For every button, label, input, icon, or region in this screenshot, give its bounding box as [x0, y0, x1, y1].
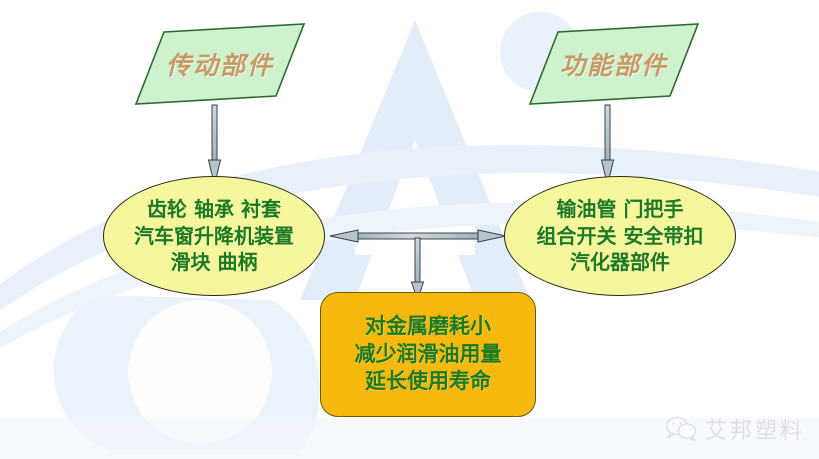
node-benefits-line-2: 减少润滑油用量: [355, 341, 502, 369]
node-parts-right-line-1: 输油管 门把手: [557, 196, 684, 222]
footer-watermark: 艾邦塑料: [665, 413, 805, 445]
arrow-right-category-to-parts: [602, 105, 614, 185]
arrow-parts-to-benefits: [412, 238, 424, 300]
node-parts-right[interactable]: 输油管 门把手 组合开关 安全带扣 汽化器部件: [504, 176, 736, 296]
node-benefits[interactable]: 对金属磨耗小 减少润滑油用量 延长使用寿命: [320, 292, 536, 417]
node-benefits-line-1: 对金属磨耗小: [365, 313, 491, 341]
node-category-left[interactable]: 传动部件: [136, 24, 304, 104]
node-parts-left-line-3: 滑块 曲柄: [171, 249, 258, 275]
node-parts-left[interactable]: 齿轮 轴承 衬套 汽车窗升降机装置 滑块 曲柄: [103, 176, 325, 296]
node-benefits-line-3: 延长使用寿命: [365, 368, 491, 396]
diagram-canvas: 传动部件 功能部件 齿轮 轴承 衬套 汽车窗升降机装置 滑块 曲柄 输油管 门把…: [0, 0, 819, 459]
node-parts-left-line-1: 齿轮 轴承 衬套: [147, 196, 281, 222]
node-category-right-label: 功能部件: [530, 24, 698, 104]
node-parts-right-line-3: 汽化器部件: [570, 249, 670, 275]
node-parts-right-line-2: 组合开关 安全带扣: [537, 223, 704, 249]
arrow-left-category-to-parts: [209, 105, 221, 185]
wechat-icon: [665, 416, 697, 442]
node-parts-left-line-2: 汽车窗升降机装置: [134, 223, 294, 249]
node-category-right[interactable]: 功能部件: [530, 24, 698, 104]
node-category-left-label: 传动部件: [136, 24, 304, 104]
footer-watermark-text: 艾邦塑料: [705, 413, 805, 445]
